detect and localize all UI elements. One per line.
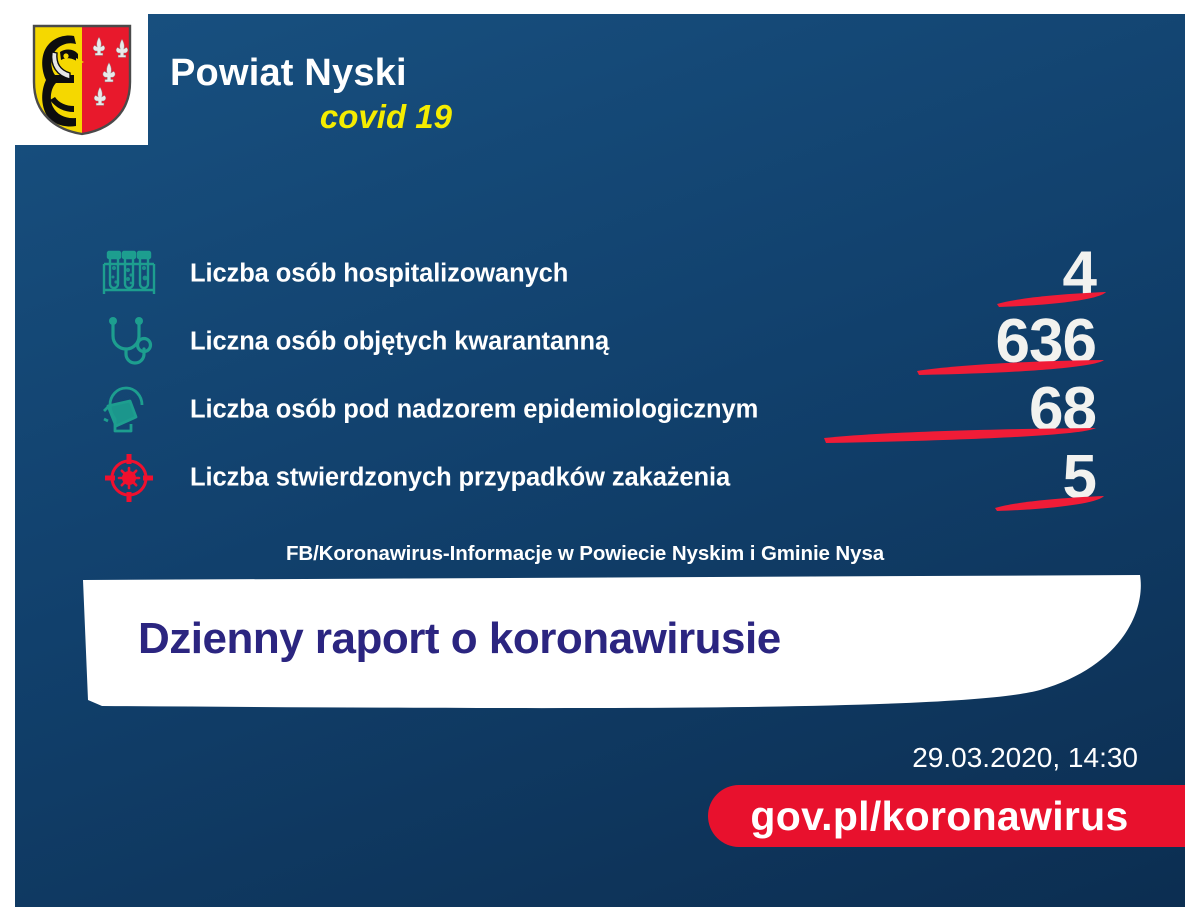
gov-url-text: gov.pl/koronawirus — [750, 793, 1142, 840]
test-tubes-icon — [98, 245, 160, 303]
stat-value: 68 — [1029, 379, 1096, 441]
stat-value: 4 — [1063, 243, 1096, 305]
stat-row: Liczba osób hospitalizowanych 4 — [90, 240, 1180, 308]
powiat-nyski-coat-of-arms-icon — [30, 22, 134, 138]
page-subtitle: covid 19 — [170, 100, 490, 133]
header-text-block: Powiat Nyski covid 19 — [170, 54, 490, 133]
coat-of-arms-logo-box — [15, 14, 148, 145]
page-title: Powiat Nyski — [170, 54, 490, 92]
report-banner: Dzienny raport o koronawirusie — [80, 572, 1153, 712]
stethoscope-icon — [98, 313, 160, 371]
stat-label: Liczba stwierdzonych przypadków zakażeni… — [190, 464, 730, 493]
stat-label: Liczba osób pod nadzorem epidemiologiczn… — [190, 396, 758, 425]
stat-row: Liczna osób objętych kwarantanną 636 — [90, 308, 1180, 376]
stat-label: Liczba osób hospitalizowanych — [190, 260, 568, 289]
report-timestamp: 29.03.2020, 14:30 — [912, 742, 1138, 774]
stat-label: Liczna osób objętych kwarantanną — [190, 328, 609, 357]
stat-row: Liczba osób pod nadzorem epidemiologiczn… — [90, 376, 1180, 444]
banner-title: Dzienny raport o koronawirusie — [138, 614, 781, 664]
stat-value: 5 — [1063, 447, 1096, 509]
stats-list: Liczba osób hospitalizowanych 4 — [90, 240, 1180, 512]
source-line: FB/Koronawirus-Informacje w Powiecie Nys… — [0, 542, 1200, 566]
face-mask-head-icon — [98, 381, 160, 439]
gov-url-badge[interactable]: gov.pl/koronawirus — [708, 785, 1185, 847]
covid-report-poster: Powiat Nyski covid 19 — [0, 0, 1200, 922]
stat-value: 636 — [996, 311, 1096, 373]
stat-row: Liczba stwierdzonych przypadków zakażeni… — [90, 444, 1180, 512]
virus-target-icon — [98, 449, 160, 507]
